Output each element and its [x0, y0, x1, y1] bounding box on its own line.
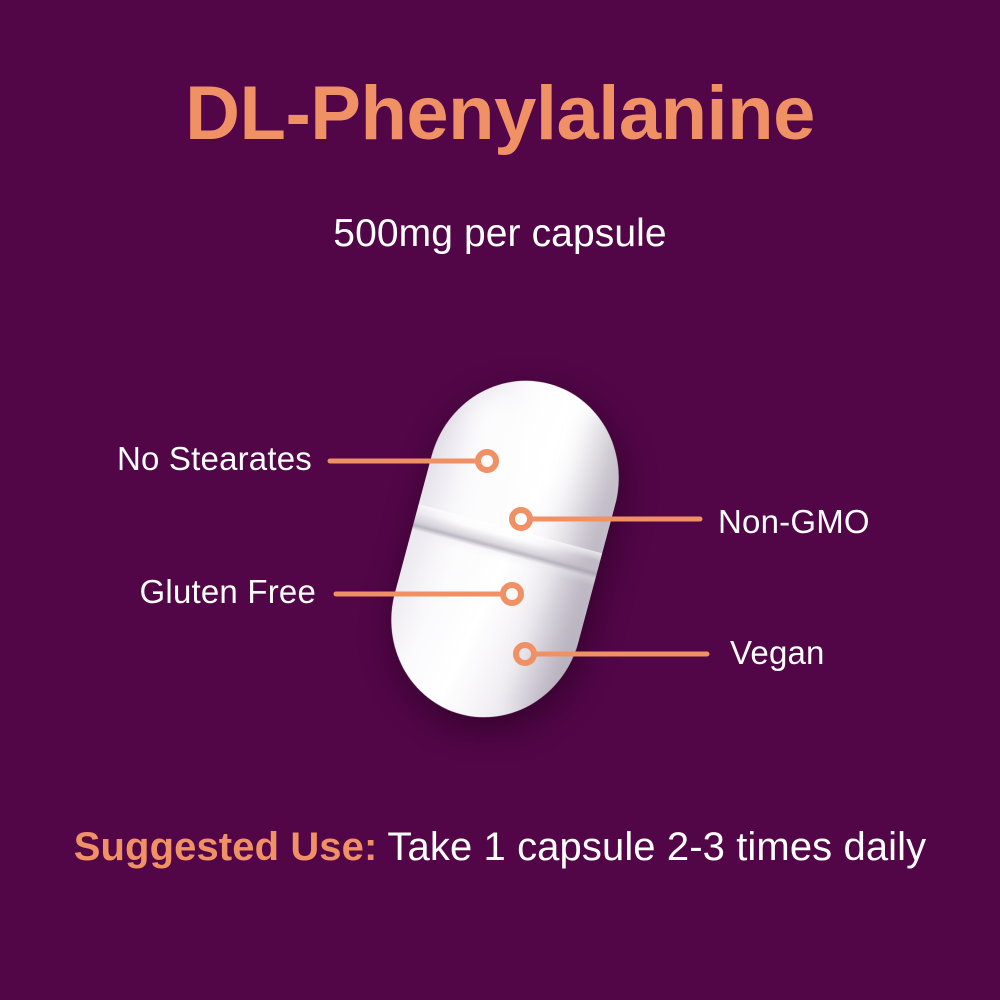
capsule-graphic [369, 359, 641, 739]
callout-label-non-gmo: Non-GMO [718, 503, 958, 541]
suggested-use-text: Take 1 capsule 2-3 times daily [387, 825, 926, 869]
callout-label-vegan: Vegan [730, 634, 930, 672]
capsule-body [369, 359, 641, 739]
product-info-card: DL-Phenylalanine 500mg per capsule [0, 0, 1000, 1000]
suggested-use-label: Suggested Use: [74, 825, 378, 869]
callout-label-gluten-free: Gluten Free [80, 573, 316, 611]
suggested-use-block: Suggested Use:Take 1 capsule 2-3 times d… [60, 822, 940, 873]
callout-label-no-stearates: No Stearates [80, 440, 312, 478]
